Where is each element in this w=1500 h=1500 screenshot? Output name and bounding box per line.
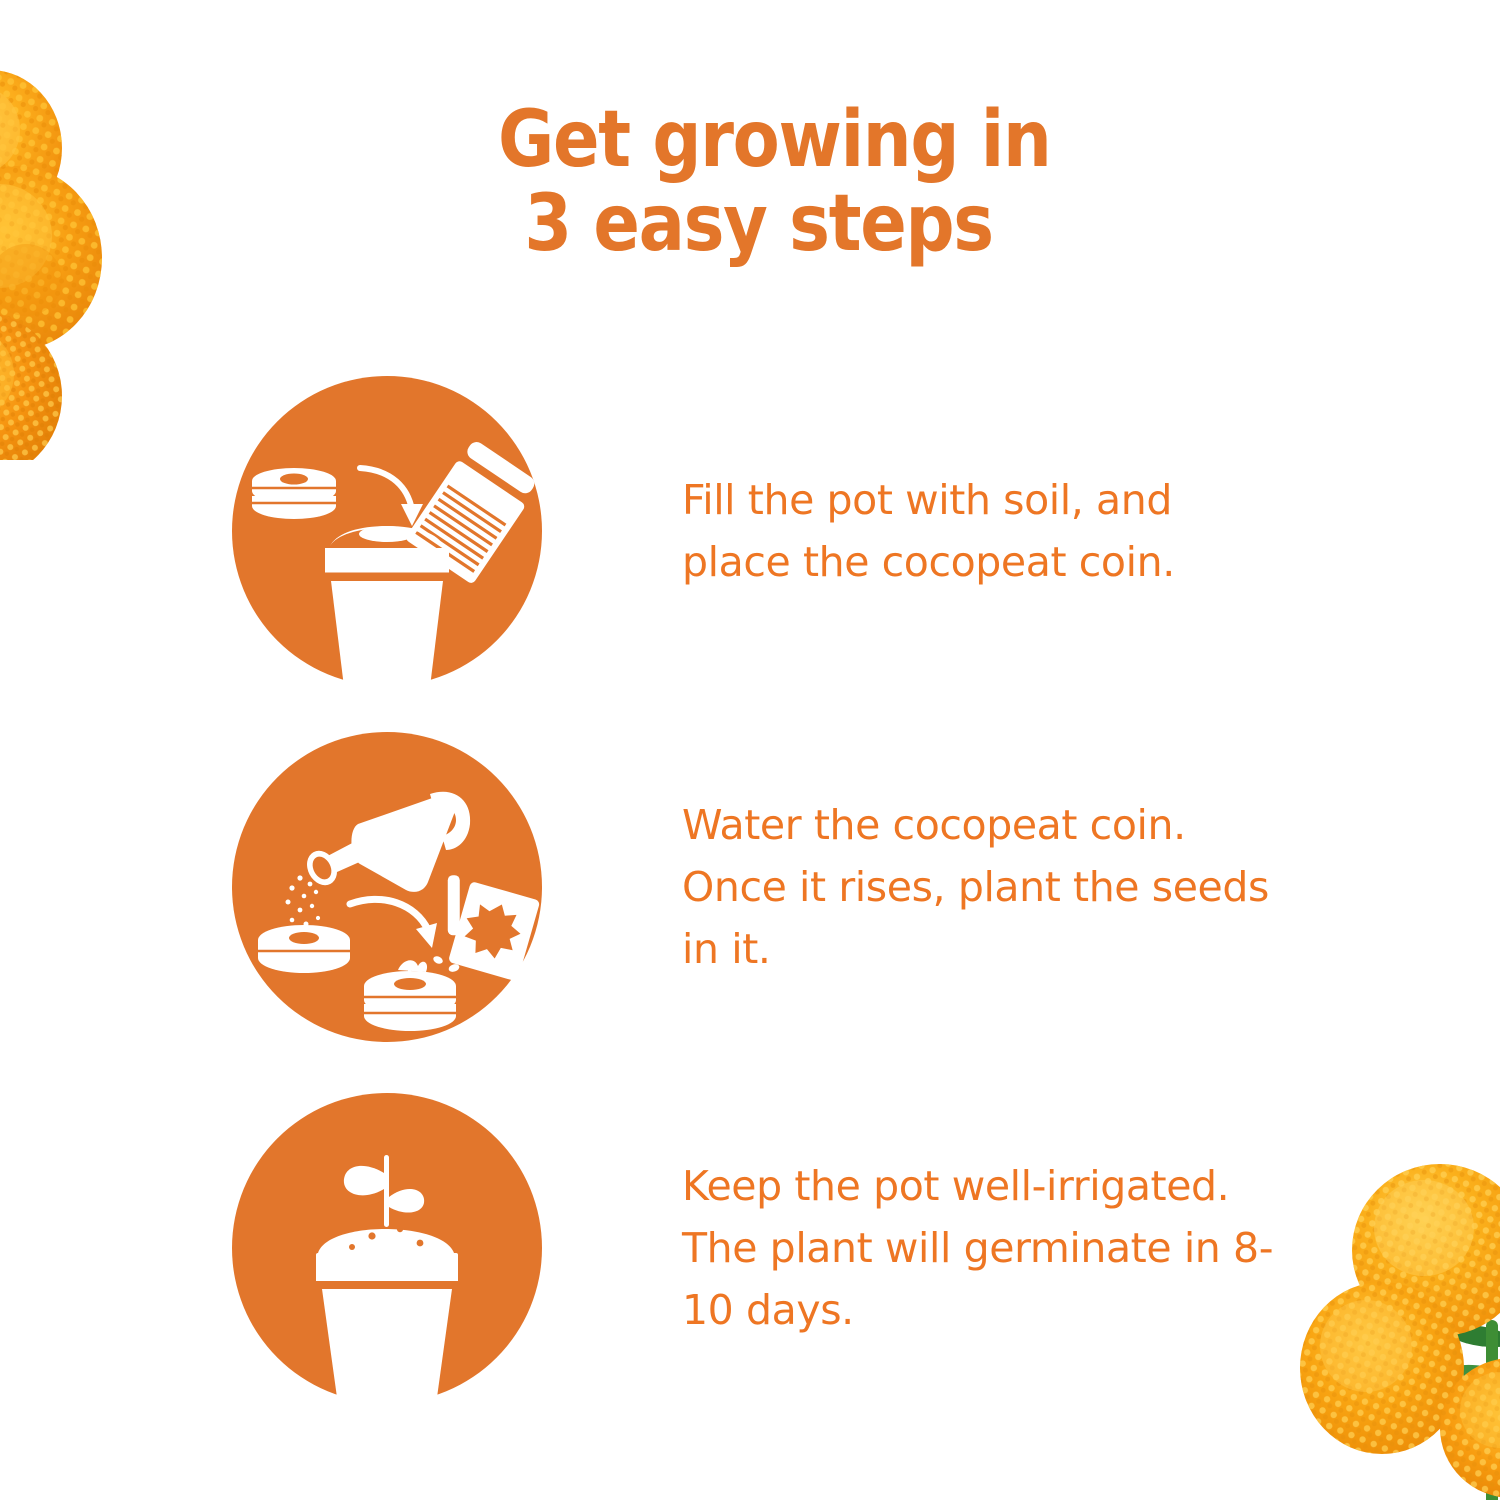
marigold-bloom — [0, 70, 62, 226]
step-3-description: Keep the pot well-irrigated. The plant w… — [682, 1155, 1292, 1341]
sprout-shape — [344, 1155, 424, 1227]
leaf-shape — [1436, 1320, 1500, 1500]
step-item-3: Keep the pot well-irrigated. The plant w… — [232, 1092, 1292, 1404]
poster-canvas: Get growing in 3 easy steps — [0, 0, 1500, 1500]
flower-pot-shape — [318, 526, 456, 686]
marigold-bloom — [1300, 1282, 1464, 1454]
marigold-bloom — [1440, 1358, 1500, 1498]
cocopeat-coin-stack-shape — [252, 468, 336, 519]
step-3-icon-badge — [232, 1093, 542, 1403]
watering-can-shape — [301, 792, 470, 892]
soil-mound-shape — [318, 1226, 454, 1253]
step-2-description: Water the cocopeat coin. Once it rises, … — [682, 794, 1292, 980]
cocopeat-coin-flat-shape — [258, 925, 350, 973]
curved-arrow-shape — [350, 899, 437, 948]
potted-seedling-sprout-icon — [232, 1093, 542, 1403]
step-1-description: Fill the pot with soil, and place the co… — [682, 469, 1292, 593]
flower-pot-shape — [304, 1253, 470, 1403]
marigold-bloom — [0, 312, 62, 460]
title-line-1: Get growing in — [498, 98, 1167, 182]
marigold-bloom — [0, 166, 102, 350]
risen-cocopeat-coin-stack-shape — [364, 960, 456, 1031]
page-title: Get growing in 3 easy steps — [498, 98, 1258, 266]
curved-arrow-shape — [360, 468, 423, 526]
title-line-2: 3 easy steps — [498, 182, 1167, 266]
seed-packet-shape — [425, 872, 541, 982]
watering-can-cocopeat-coin-seed-packet-icon — [232, 732, 542, 1042]
pot-with-soil-and-cocopeat-coin-icon — [232, 376, 542, 686]
marigold-bloom — [1352, 1164, 1500, 1336]
leaf-shape — [0, 271, 8, 354]
marigold-decoration-top-left — [0, 40, 168, 460]
step-1-icon-badge — [232, 376, 542, 686]
step-2-icon-badge — [232, 732, 542, 1042]
step-item-1: Fill the pot with soil, and place the co… — [232, 375, 1292, 687]
step-item-2: Water the cocopeat coin. Once it rises, … — [232, 731, 1292, 1043]
marigold-decoration-bottom-right — [1290, 1160, 1500, 1500]
